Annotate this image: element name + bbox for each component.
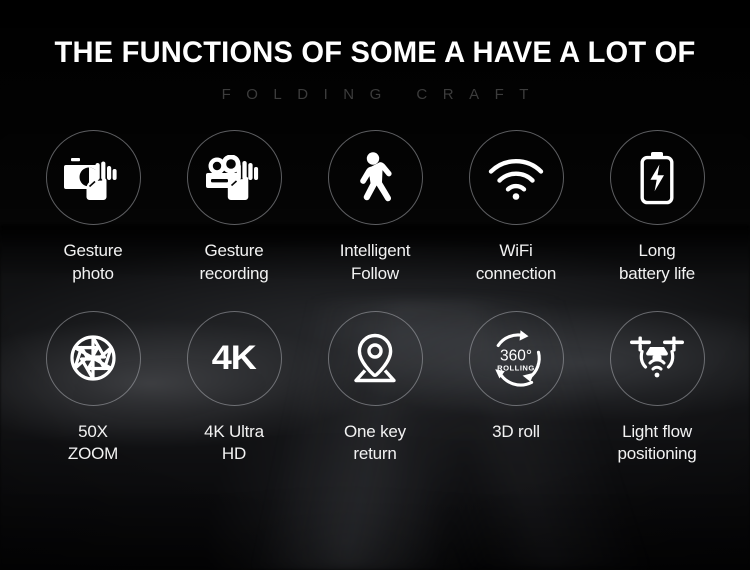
icon-circle <box>46 130 141 225</box>
feature-item-wifi-connection[interactable]: WiFi connection <box>469 130 564 286</box>
feature-label: 50X ZOOM <box>68 421 118 467</box>
feature-row-1: Gesture photo <box>0 130 750 286</box>
icon-circle: 360° ROLLING <box>469 311 564 406</box>
camera-aperture-icon <box>68 333 118 383</box>
360-rolling-icon: 360° ROLLING <box>485 327 547 389</box>
feature-item-long-battery-life[interactable]: Long battery life <box>610 130 705 286</box>
walking-person-icon <box>356 152 394 204</box>
icon-circle <box>469 130 564 225</box>
feature-label: 4K Ultra HD <box>204 421 264 467</box>
svg-text:ROLLING: ROLLING <box>497 364 535 373</box>
feature-item-3d-roll[interactable]: 360° ROLLING 3D roll <box>469 311 564 444</box>
feature-item-light-flow-positioning[interactable]: Light flow positioning <box>610 311 705 467</box>
feature-label: Intelligent Follow <box>340 240 411 286</box>
feature-label: One key return <box>344 421 406 467</box>
feature-grid: Gesture photo <box>0 130 750 466</box>
page-subtitle: FOLDING CRAFT <box>0 87 750 102</box>
icon-circle <box>328 311 423 406</box>
battery-charge-icon <box>639 151 675 205</box>
4k-text-icon: 4K <box>212 341 256 375</box>
bottom-white-strip <box>0 570 750 584</box>
icon-circle <box>610 311 705 406</box>
poster-content: THE FUNCTIONS OF SOME A HAVE A LOT OF FO… <box>0 0 750 466</box>
icon-circle: 4K <box>187 311 282 406</box>
feature-label: 3D roll <box>492 421 540 444</box>
feature-item-4k-ultra-hd[interactable]: 4K 4K Ultra HD <box>187 311 282 467</box>
feature-row-2: 50X ZOOM 4K 4K Ultra HD <box>0 311 750 467</box>
location-pin-icon <box>349 332 401 384</box>
feature-label: Gesture photo <box>63 240 122 286</box>
icon-circle <box>328 130 423 225</box>
feature-label: Light flow positioning <box>617 421 696 467</box>
icon-circle <box>46 311 141 406</box>
feature-item-gesture-photo[interactable]: Gesture photo <box>46 130 141 286</box>
icon-circle <box>187 130 282 225</box>
feature-item-one-key-return[interactable]: One key return <box>328 311 423 467</box>
svg-text:360°: 360° <box>500 348 532 365</box>
icon-circle <box>610 130 705 225</box>
feature-poster: THE FUNCTIONS OF SOME A HAVE A LOT OF FO… <box>0 0 750 584</box>
feature-label: WiFi connection <box>476 240 556 286</box>
feature-item-50x-zoom[interactable]: 50X ZOOM <box>46 311 141 467</box>
feature-item-gesture-recording[interactable]: Gesture recording <box>187 130 282 286</box>
video-camera-hand-gesture-icon <box>206 155 262 201</box>
drone-optical-flow-icon <box>628 333 686 383</box>
page-title: THE FUNCTIONS OF SOME A HAVE A LOT OF <box>11 38 739 68</box>
feature-label: Long battery life <box>619 240 695 286</box>
feature-item-intelligent-follow[interactable]: Intelligent Follow <box>328 130 423 286</box>
camera-hand-gesture-icon <box>64 155 122 201</box>
wifi-icon <box>487 156 545 200</box>
feature-label: Gesture recording <box>199 240 268 286</box>
